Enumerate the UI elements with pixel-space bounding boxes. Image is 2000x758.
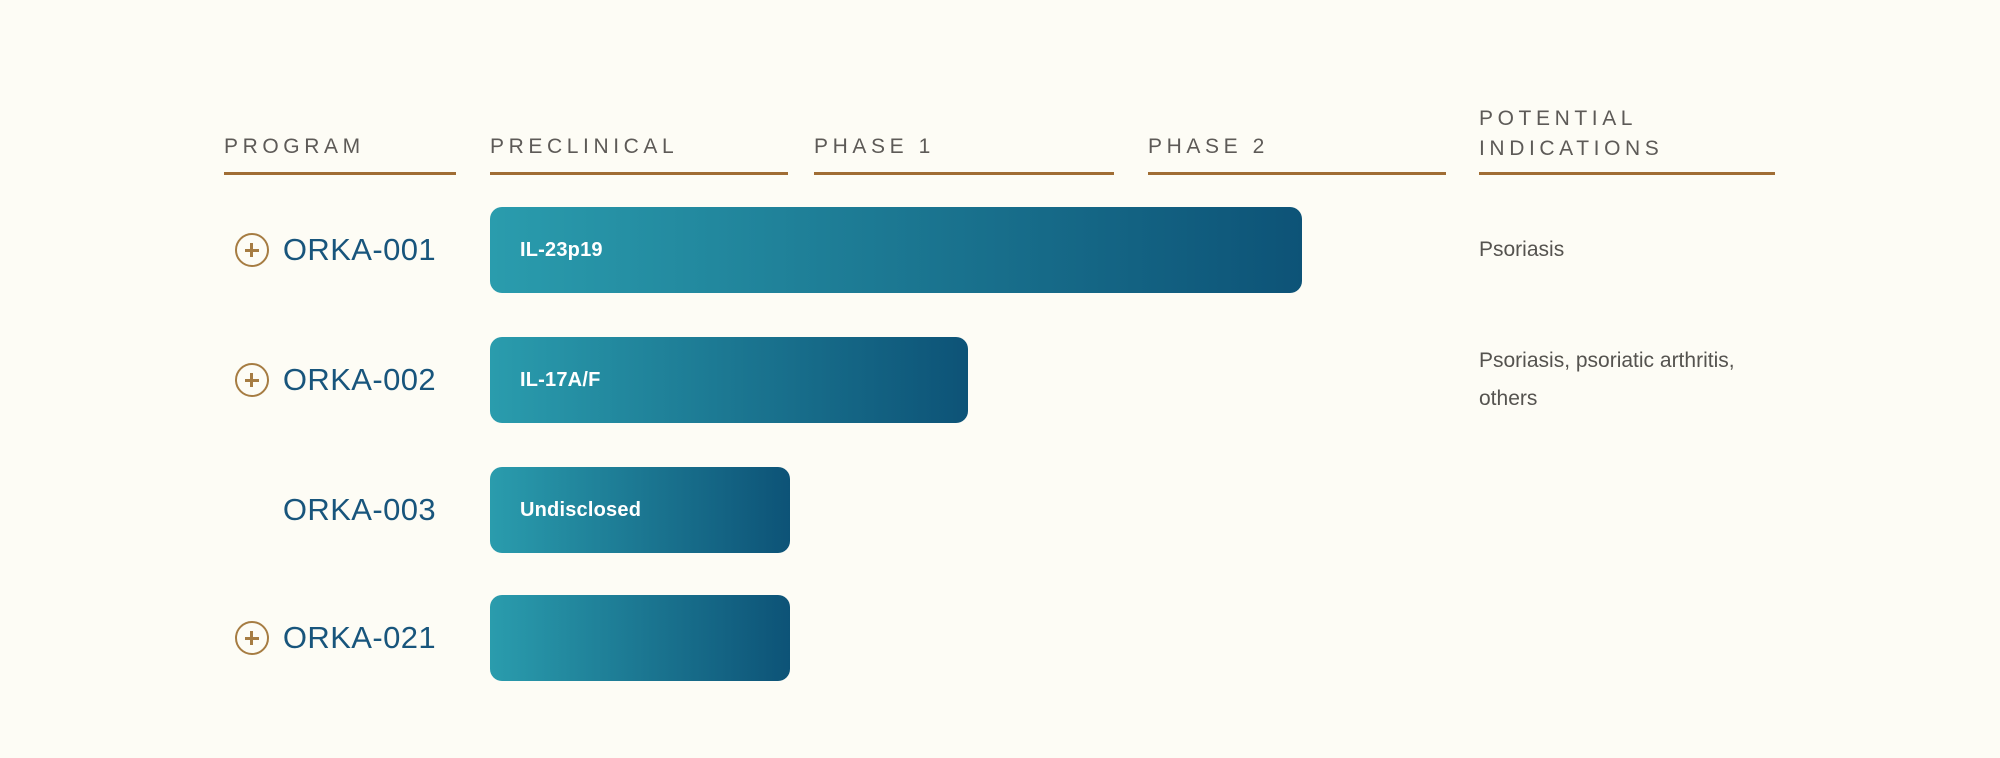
column-header-phase-2: PHASE 2 [1148,132,1446,175]
column-rule-phase-2 [1148,172,1446,175]
progress-bar-label: IL-17A/F [520,369,601,392]
program-name: ORKA-021 [283,620,436,656]
progress-bar-label: IL-23p19 [520,239,603,262]
plus-circle-icon[interactable] [235,363,269,397]
program-cell[interactable]: ORKA-003 [224,445,436,575]
indication-text: Psoriasis [1479,231,1564,269]
column-header-program: PROGRAM [224,132,456,175]
column-header-preclinical-label: PRECLINICAL [490,132,788,162]
indication-cell: Psoriasis, psoriatic arthritis, others [1479,315,1779,445]
indication-text: Psoriasis, psoriatic arthritis, others [1479,342,1779,418]
progress-bar-label: Undisclosed [520,499,641,522]
indication-cell: Psoriasis [1479,185,1779,315]
column-header-phase-2-label: PHASE 2 [1148,132,1446,162]
program-cell[interactable]: ORKA-002 [224,315,436,445]
pipeline-header: PROGRAM PRECLINICAL PHASE 1 PHASE 2 POTE… [0,0,2000,175]
program-name: ORKA-002 [283,362,436,398]
pipeline-row-orka-001: ORKA-001 IL-23p19 Psoriasis [0,185,2000,315]
column-header-phase-1-label: PHASE 1 [814,132,1114,162]
program-name: ORKA-003 [283,492,436,528]
pipeline-row-orka-021: ORKA-021 [0,573,2000,703]
column-rule-potential-indications [1479,172,1775,175]
program-name: ORKA-001 [283,232,436,268]
column-header-preclinical: PRECLINICAL [490,132,788,175]
column-header-program-label: PROGRAM [224,132,456,162]
program-cell[interactable]: ORKA-001 [224,185,436,315]
program-cell[interactable]: ORKA-021 [224,573,436,703]
column-header-phase-1: PHASE 1 [814,132,1114,175]
plus-circle-icon[interactable] [235,233,269,267]
column-header-potential-indications-label: POTENTIAL INDICATIONS [1479,104,1775,164]
column-rule-program [224,172,456,175]
indication-cell [1479,573,1779,703]
progress-bar-orka-001: IL-23p19 [490,207,1302,293]
column-header-potential-indications: POTENTIAL INDICATIONS [1479,104,1775,175]
progress-bar-orka-003: Undisclosed [490,467,790,553]
progress-bar-orka-021 [490,595,790,681]
indication-cell [1479,445,1779,575]
pipeline-row-orka-003: ORKA-003 Undisclosed [0,445,2000,575]
pipeline-chart: PROGRAM PRECLINICAL PHASE 1 PHASE 2 POTE… [0,0,2000,758]
column-rule-phase-1 [814,172,1114,175]
column-rule-preclinical [490,172,788,175]
pipeline-row-orka-002: ORKA-002 IL-17A/F Psoriasis, psoriatic a… [0,315,2000,445]
progress-bar-orka-002: IL-17A/F [490,337,968,423]
plus-circle-icon[interactable] [235,621,269,655]
